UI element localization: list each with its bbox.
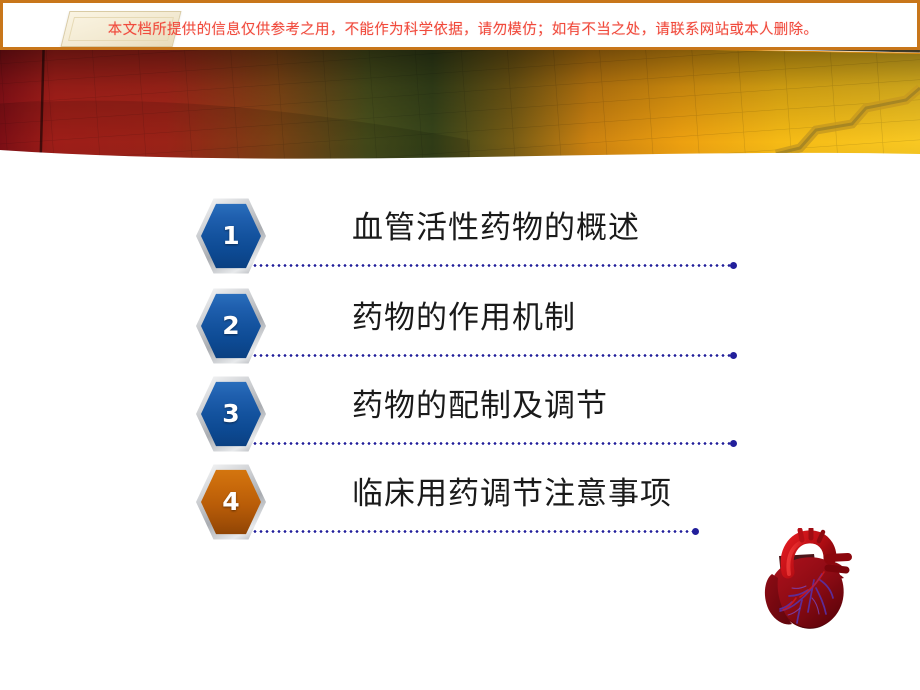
header-banner-artwork (0, 44, 920, 184)
agenda-item-1-connector-endpoint (730, 262, 737, 269)
disclaimer-banner: 本文档所提供的信息仅供参考之用，不能作为科学依据，请勿模仿；如有不当之处，请联系… (0, 0, 920, 50)
agenda-item-2[interactable]: 2 药物的作用机制 (0, 282, 920, 372)
hex-badge-3-number: 3 (222, 401, 239, 426)
agenda-item-1-connector (252, 264, 732, 267)
hex-badge-2-number: 2 (222, 313, 239, 338)
agenda-item-3[interactable]: 3 药物的配制及调节 (0, 370, 920, 460)
heart-illustration (756, 528, 860, 636)
agenda-item-2-label: 药物的作用机制 (352, 292, 576, 337)
agenda-item-2-connector-endpoint (730, 352, 737, 359)
hex-badge-4-number: 4 (222, 489, 239, 514)
hex-badge-1-fill: 1 (201, 203, 261, 270)
hex-badge-3-fill: 3 (201, 381, 261, 448)
header-swoosh-graphic (0, 44, 920, 184)
agenda-item-2-connector (252, 354, 732, 357)
agenda-item-3-label: 药物的配制及调节 (352, 380, 608, 425)
agenda-item-1[interactable]: 1 血管活性药物的概述 (0, 192, 920, 282)
agenda-item-1-label: 血管活性药物的概述 (352, 202, 640, 247)
agenda-list: 1 血管活性药物的概述 2 药物的作用机制 3 药物的配制 (0, 185, 920, 585)
hex-badge-4-fill: 4 (201, 469, 261, 536)
agenda-item-4-connector-endpoint (692, 528, 699, 535)
anatomical-heart-icon (756, 528, 860, 636)
agenda-item-3-connector-endpoint (730, 440, 737, 447)
agenda-item-3-connector (252, 442, 732, 445)
disclaimer-text: 本文档所提供的信息仅供参考之用，不能作为科学依据，请勿模仿；如有不当之处，请联系… (3, 3, 920, 50)
agenda-item-4-label: 临床用药调节注意事项 (352, 468, 672, 513)
hex-badge-1-number: 1 (222, 223, 239, 248)
hex-badge-2-fill: 2 (201, 293, 261, 360)
agenda-item-4-connector (252, 530, 694, 533)
